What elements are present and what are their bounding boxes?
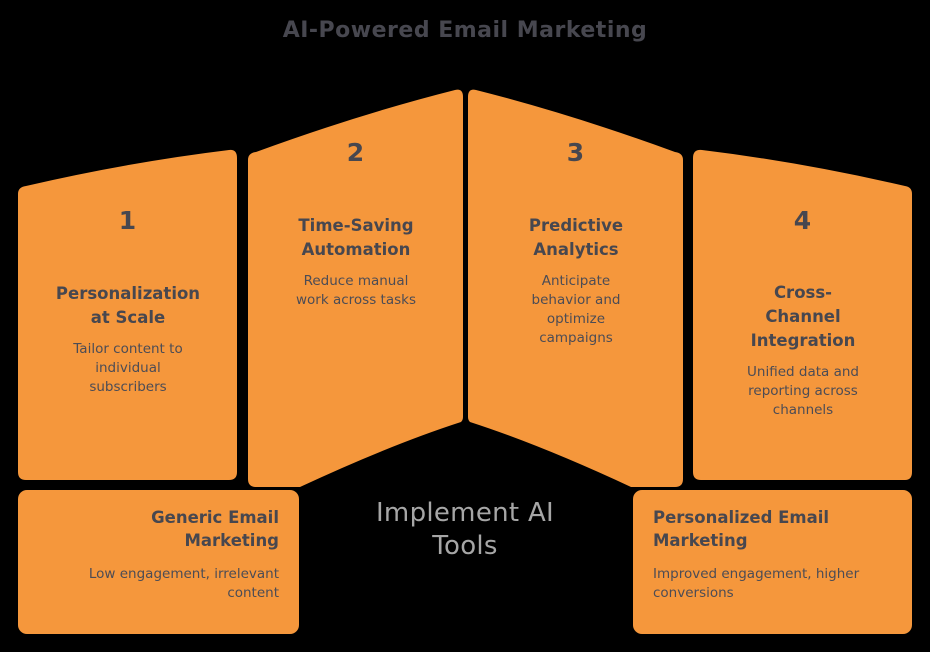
outcome-box-before[interactable]: Generic Email Marketing Low engagement, … (18, 490, 299, 634)
outcome-before-title: Generic Email Marketing (38, 506, 279, 553)
panel-1-shape[interactable] (18, 150, 237, 480)
outcome-after-title-line2: Marketing (653, 529, 892, 552)
outcome-after-desc-line1: Improved engagement, higher (653, 565, 892, 584)
panel-3-shape[interactable] (468, 90, 683, 487)
outcome-before-title-line2: Marketing (38, 529, 279, 552)
outcome-before-desc: Low engagement, irrelevant content (38, 565, 279, 603)
outcome-box-after[interactable]: Personalized Email Marketing Improved en… (633, 490, 912, 634)
panel-2-shape[interactable] (248, 90, 463, 487)
outcome-before-desc-line1: Low engagement, irrelevant (38, 565, 279, 584)
outcome-after-desc-line2: conversions (653, 584, 892, 603)
outcome-before-title-line1: Generic Email (38, 506, 279, 529)
center-cta-line2: Tools (300, 530, 630, 563)
infographic-canvas: AI-Powered Email Marketing 1 Personaliza… (0, 0, 930, 652)
panel-4-shape[interactable] (693, 150, 912, 480)
center-cta: Implement AI Tools (300, 497, 630, 563)
center-cta-line1: Implement AI (300, 497, 630, 530)
outcome-after-title: Personalized Email Marketing (653, 506, 892, 553)
outcome-before-desc-line2: content (38, 584, 279, 603)
outcome-after-title-line1: Personalized Email (653, 506, 892, 529)
outcome-after-desc: Improved engagement, higher conversions (653, 565, 892, 603)
